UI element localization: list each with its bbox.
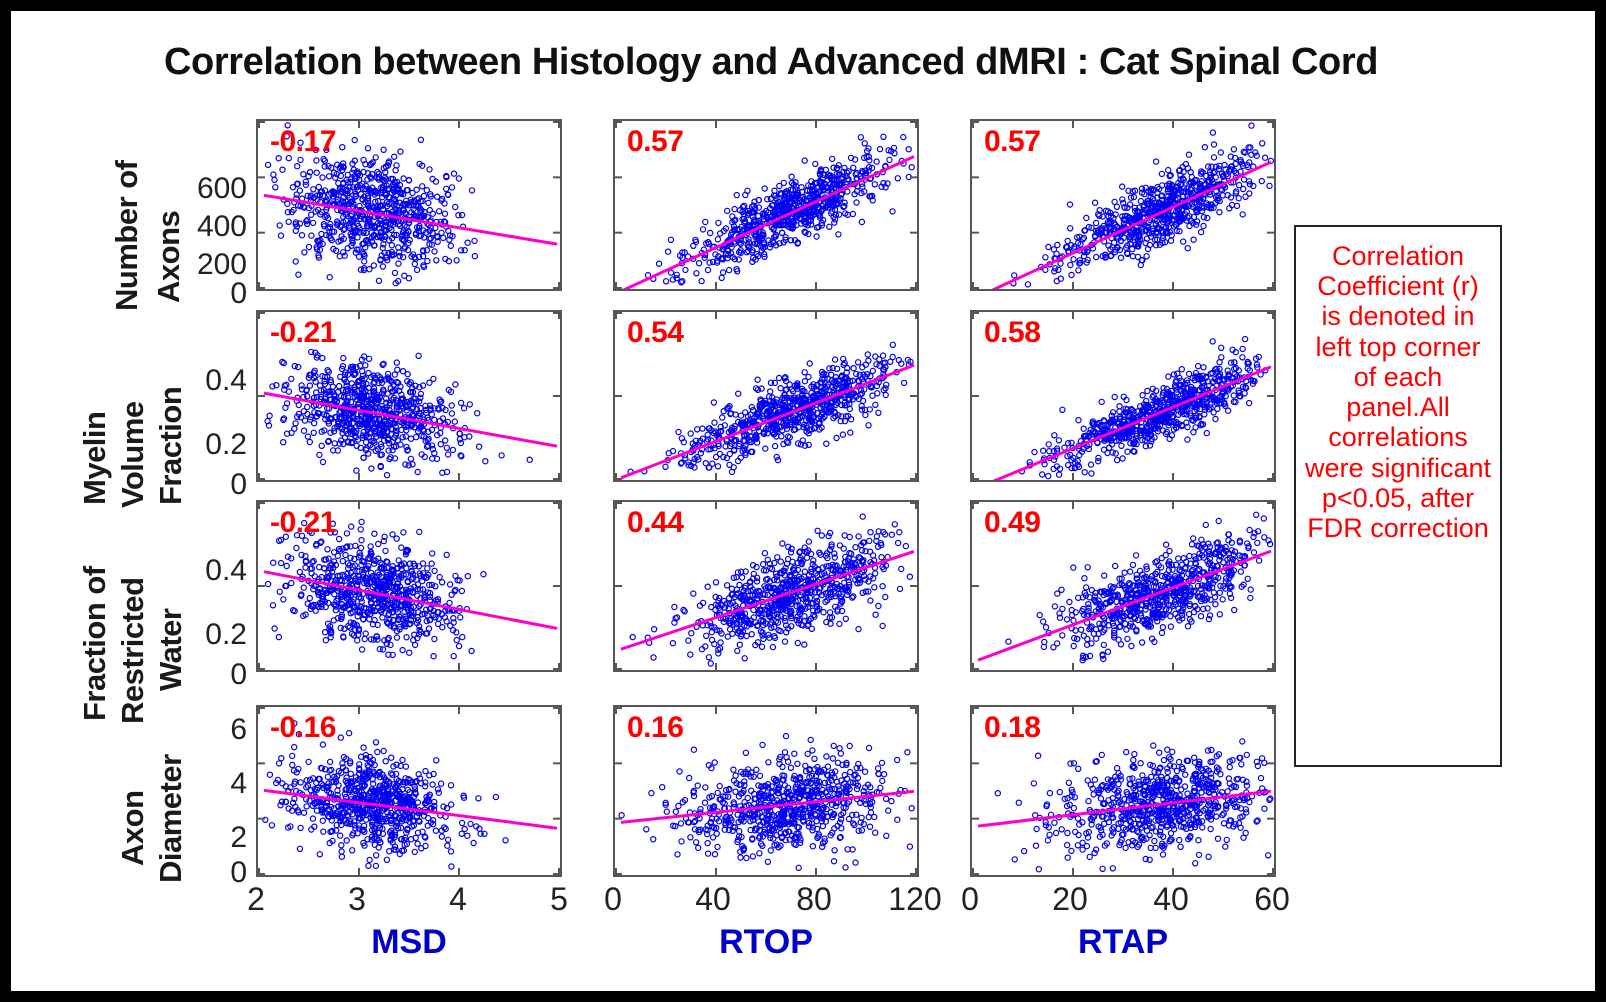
legend-text: Correlation Coefficient (r) is denoted i… xyxy=(1304,241,1492,543)
correlation-coefficient: -0.16 xyxy=(270,711,336,745)
xaxis-title-rtap: RTAP xyxy=(970,923,1276,962)
xtick-msd-2: 2 xyxy=(226,881,286,918)
yaxis-title-axon: Axon xyxy=(115,791,151,867)
ytick-r2-04: 0.4 xyxy=(159,554,247,588)
correlation-coefficient: 0.58 xyxy=(984,316,1040,350)
xtick-rtop-0: 0 xyxy=(583,881,643,918)
correlation-coefficient: -0.21 xyxy=(270,506,336,540)
ytick-r2-02: 0.2 xyxy=(159,618,247,652)
scatter-panel-msd-number-of-axons[interactable]: -0.17 xyxy=(256,119,562,291)
yaxis-title-restricted: Restricted xyxy=(115,577,151,724)
yaxis-title-volume: Volume xyxy=(115,401,151,508)
page-title: Correlation between Histology and Advanc… xyxy=(11,41,1531,84)
legend-box: Correlation Coefficient (r) is denoted i… xyxy=(1294,225,1502,767)
xtick-rtop-120: 120 xyxy=(881,881,949,918)
xtick-msd-3: 3 xyxy=(327,881,387,918)
scatter-panel-rtop-axon-diameter[interactable]: 0.16 xyxy=(613,705,919,877)
scatter-panel-rtop-myelin-volume-fraction[interactable]: 0.54 xyxy=(613,310,919,482)
correlation-coefficient: 0.57 xyxy=(984,125,1040,159)
figure-canvas: Correlation between Histology and Advanc… xyxy=(11,11,1595,991)
ytick-r0-400: 400 xyxy=(159,210,247,244)
correlation-coefficient: 0.44 xyxy=(627,506,683,540)
xtick-rtap-60: 60 xyxy=(1242,881,1302,918)
yaxis-title-myelin: Myelin xyxy=(77,412,113,505)
scatter-panel-rtap-number-of-axons[interactable]: 0.57 xyxy=(970,119,1276,291)
scatter-panel-rtap-axon-diameter[interactable]: 0.18 xyxy=(970,705,1276,877)
xtick-rtap-0: 0 xyxy=(940,881,1000,918)
ytick-r1-04: 0.4 xyxy=(159,364,247,398)
scatter-panel-msd-axon-diameter[interactable]: -0.16 xyxy=(256,705,562,877)
xaxis-title-rtop: RTOP xyxy=(613,923,919,962)
correlation-coefficient: -0.17 xyxy=(270,125,336,159)
correlation-coefficient: 0.54 xyxy=(627,316,683,350)
correlation-coefficient: -0.21 xyxy=(270,316,336,350)
scatter-panel-rtap-fraction-restricted-water[interactable]: 0.49 xyxy=(970,500,1276,672)
xtick-rtop-40: 40 xyxy=(683,881,743,918)
ytick-r3-2: 2 xyxy=(159,821,247,855)
ytick-r1-0: 0 xyxy=(159,468,247,502)
scatter-panel-rtop-number-of-axons[interactable]: 0.57 xyxy=(613,119,919,291)
xtick-rtop-80: 80 xyxy=(784,881,844,918)
ytick-r0-0: 0 xyxy=(159,277,247,311)
ytick-r3-4: 4 xyxy=(159,767,247,801)
correlation-coefficient: 0.16 xyxy=(627,711,683,745)
scatter-panel-rtap-myelin-volume-fraction[interactable]: 0.58 xyxy=(970,310,1276,482)
scatter-panel-msd-myelin-volume-fraction[interactable]: -0.21 xyxy=(256,310,562,482)
scatter-panel-msd-fraction-restricted-water[interactable]: -0.21 xyxy=(256,500,562,672)
xtick-msd-5: 5 xyxy=(529,881,589,918)
xtick-msd-4: 4 xyxy=(428,881,488,918)
xaxis-title-msd: MSD xyxy=(256,923,562,962)
ytick-r3-6: 6 xyxy=(159,713,247,747)
correlation-coefficient: 0.18 xyxy=(984,711,1040,745)
correlation-coefficient: 0.49 xyxy=(984,506,1040,540)
ytick-r0-600: 600 xyxy=(159,172,247,206)
xtick-rtap-20: 20 xyxy=(1040,881,1100,918)
correlation-coefficient: 0.57 xyxy=(627,125,683,159)
xtick-rtap-40: 40 xyxy=(1141,881,1201,918)
ytick-r1-02: 0.2 xyxy=(159,428,247,462)
yaxis-title-number-of: Number of xyxy=(109,161,145,312)
scatter-panel-rtop-fraction-restricted-water[interactable]: 0.44 xyxy=(613,500,919,672)
yaxis-title-fraction-of: Fraction of xyxy=(77,566,113,721)
ytick-r2-0: 0 xyxy=(159,658,247,692)
